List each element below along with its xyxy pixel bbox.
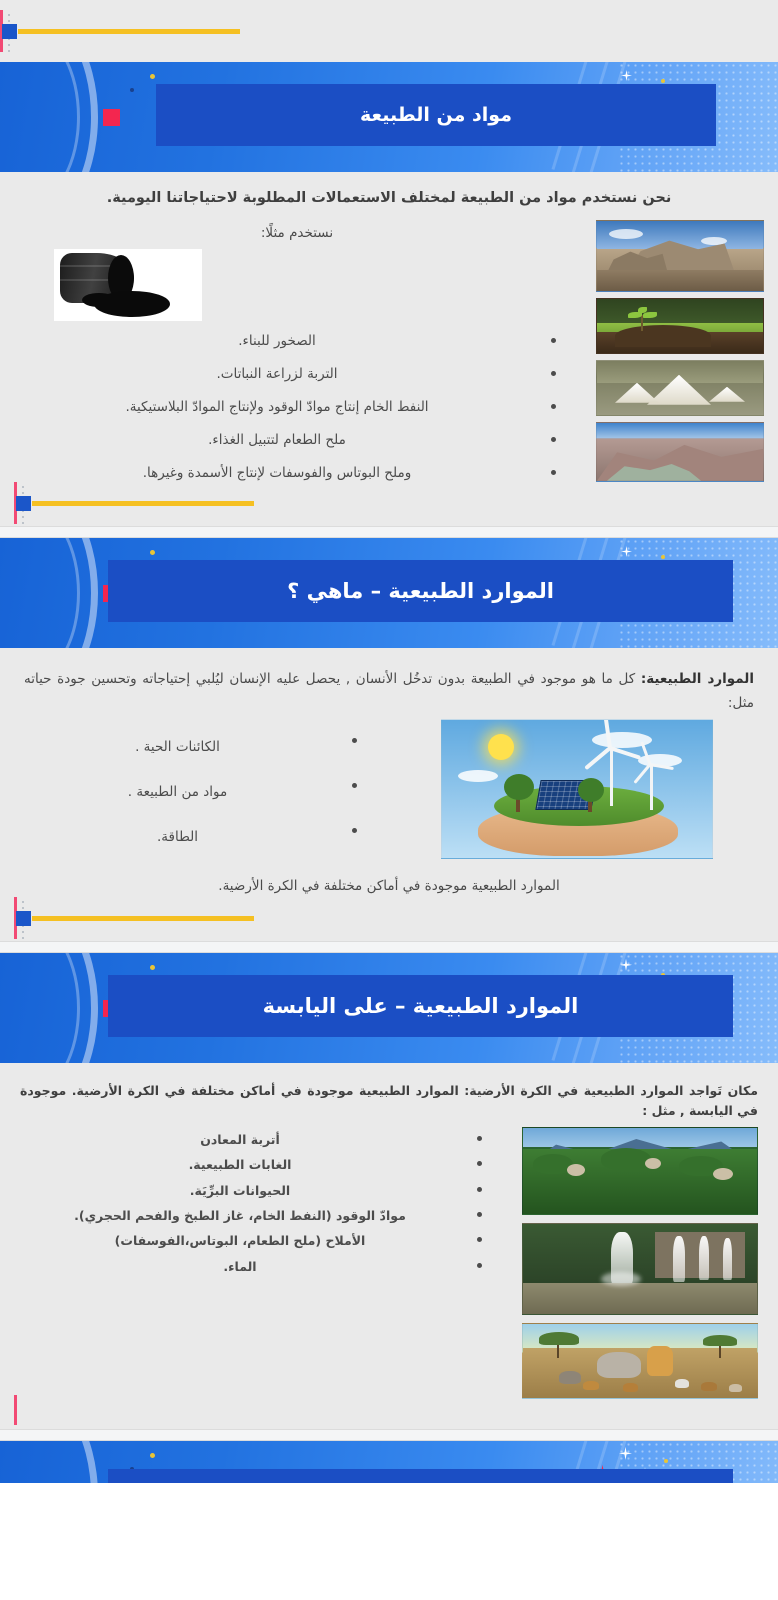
list-item: الكائنات الحية . xyxy=(14,725,367,770)
list-item: الماء. xyxy=(14,1254,492,1279)
boulder-icon xyxy=(645,1158,661,1169)
antelope-icon xyxy=(623,1383,638,1392)
mist-icon xyxy=(601,1272,641,1286)
list-item: الصخور للبناء. xyxy=(14,325,566,358)
blue-square-icon xyxy=(16,496,31,511)
list-item: وملح البوتاس والفوسفات لإنتاج الأسمدة وغ… xyxy=(14,457,566,490)
soil-sapling-photo xyxy=(596,298,764,354)
top-decoration xyxy=(0,18,778,44)
photo-column xyxy=(588,220,764,488)
content-columns: أتربة المعادن الغابات الطبيعية. الحيوانا… xyxy=(14,1127,764,1405)
list-item: موادّ الوقود (النفط الخام، غاز الطبخ وال… xyxy=(14,1203,492,1228)
photo-trees-layer xyxy=(597,299,763,325)
acacia-tree-icon xyxy=(719,1344,721,1358)
slide-tail-space xyxy=(14,1419,764,1429)
tree-icon xyxy=(578,778,604,802)
photo-ground-layer xyxy=(597,270,763,291)
savanna-wildlife-photo xyxy=(522,1323,758,1399)
oil-barrel-photo xyxy=(54,249,202,321)
pink-bar-icon xyxy=(14,1395,17,1425)
slide-materials-from-nature: مواد من الطبيعة نحن نستخدم مواد من الطبي… xyxy=(0,62,778,526)
waterfall-stream-icon xyxy=(699,1236,709,1280)
slide-tail-space xyxy=(14,516,764,526)
rock-formation-photo xyxy=(596,220,764,292)
photo-column xyxy=(389,719,764,865)
slide-lead-text: نحن نستخدم مواد من الطبيعة لمختلف الاستع… xyxy=(14,186,764,220)
list-item: الحيوانات البرِّيَة. xyxy=(14,1178,492,1203)
dot-icon xyxy=(661,79,665,83)
content-columns: الكائنات الحية . مواد من الطبيعة . الطاق… xyxy=(14,719,764,865)
slide-footer-decoration xyxy=(14,905,764,931)
yellow-rule-icon xyxy=(18,29,240,34)
boulder-icon xyxy=(713,1168,733,1180)
slide-closing-text: الموارد الطبيعية موجودة في أماكن مختلفة … xyxy=(14,865,764,905)
slide-next-partial xyxy=(0,1441,778,1483)
slide-separator xyxy=(0,526,778,538)
list-item: الأملاح (ملح الطعام، البوتاس،الفوسفات) xyxy=(14,1228,492,1253)
slide-banner: مواد من الطبيعة xyxy=(0,62,778,172)
slide-banner: الموارد الطبيعية – ماهي ؟ xyxy=(0,538,778,648)
waterfall-photo xyxy=(522,1223,758,1315)
cloud-icon xyxy=(701,237,727,245)
bird-icon xyxy=(729,1384,742,1392)
intro-paragraph: مكان تَواجد الموارد الطبيعية في الكرة ال… xyxy=(14,1077,764,1127)
slide-bullet-list: الكائنات الحية . مواد من الطبيعة . الطاق… xyxy=(14,725,381,860)
slide-bullet-list: الصخور للبناء. التربة لزراعة النباتات. ا… xyxy=(14,325,580,490)
dot-icon xyxy=(150,550,155,555)
cloud-icon xyxy=(458,770,498,782)
dot-icon xyxy=(150,1453,155,1458)
slide-bullet-list: أتربة المعادن الغابات الطبيعية. الحيوانا… xyxy=(14,1127,506,1279)
slide-resources-on-land: الموارد الطبيعية – على اليابسة مكان تَوا… xyxy=(0,953,778,1429)
page-top-strip xyxy=(0,0,778,62)
list-item: النفط الخام إنتاج موادّ الوقود ولإنتاج ا… xyxy=(14,391,566,424)
acacia-canopy-icon xyxy=(703,1335,737,1346)
slide-footer-decoration xyxy=(14,490,764,516)
boulder-icon xyxy=(567,1164,585,1176)
tree-cluster-icon xyxy=(601,1148,651,1170)
yellow-rule-icon xyxy=(32,501,254,506)
forest-mountain-photo xyxy=(522,1127,758,1215)
list-item: الطاقة. xyxy=(14,815,367,860)
slide-intro-text: نستخدم مثلًا: xyxy=(14,220,580,248)
soil-mound-icon xyxy=(615,325,711,347)
content-columns: نستخدم مثلًا: الصخور للبناء. التربة لزرا… xyxy=(14,220,764,490)
slide-separator xyxy=(0,1429,778,1441)
banner-arc-icon xyxy=(0,1441,98,1483)
slide-body: الموارد الطبيعية: كل ما هو موجود في الطب… xyxy=(0,648,778,941)
salt-pile-icon xyxy=(615,383,659,403)
waterfall-stream-icon xyxy=(723,1238,732,1280)
slide-body: نحن نستخدم مواد من الطبيعة لمختلف الاستع… xyxy=(0,172,778,526)
photo-sky-layer xyxy=(597,423,763,438)
text-column: أتربة المعادن الغابات الطبيعية. الحيوانا… xyxy=(14,1127,506,1279)
wind-turbine-icon xyxy=(650,766,653,810)
slide-title-plate: الموارد الطبيعية – ماهي ؟ xyxy=(108,560,733,622)
yellow-rule-icon xyxy=(32,916,254,921)
antelope-icon xyxy=(701,1382,717,1391)
dot-icon xyxy=(661,555,665,559)
red-square-icon xyxy=(103,109,120,126)
list-item: أتربة المعادن xyxy=(14,1127,492,1152)
slide-what-are-natural-resources: الموارد الطبيعية – ماهي ؟ الموارد الطبيع… xyxy=(0,538,778,941)
dot-icon xyxy=(664,1459,668,1463)
slide-tail-space xyxy=(14,931,764,941)
rhino-icon xyxy=(559,1371,581,1384)
leaf-icon xyxy=(638,307,647,313)
eco-energy-hand-photo xyxy=(441,719,713,859)
slide-title: الموارد الطبيعية – على اليابسة xyxy=(263,994,579,1018)
elephant-icon xyxy=(597,1352,641,1378)
banner-arc-inner-icon xyxy=(0,538,80,648)
list-item: الغابات الطبيعية. xyxy=(14,1152,492,1177)
sun-icon xyxy=(488,734,514,760)
tree-icon xyxy=(504,774,534,800)
antelope-icon xyxy=(583,1381,599,1390)
list-item: ملح الطعام لتتبيل الغذاء. xyxy=(14,424,566,457)
slide-title: الموارد الطبيعية – ماهي ؟ xyxy=(287,579,554,603)
slide-title-plate: مواد من الطبيعة xyxy=(156,84,716,146)
dot-icon xyxy=(150,74,155,79)
acacia-canopy-icon xyxy=(539,1332,579,1345)
water-pool-layer xyxy=(523,1283,757,1314)
text-column: الكائنات الحية . مواد من الطبيعة . الطاق… xyxy=(14,725,381,860)
blue-square-icon xyxy=(2,24,17,39)
wind-turbine-icon xyxy=(610,748,613,806)
definition-label: الموارد الطبيعية: xyxy=(641,671,754,687)
slide-title-plate: الموارد الطبيعية – على اليابسة xyxy=(108,975,733,1037)
slide-title: مواد من الطبيعة xyxy=(360,104,512,126)
giraffe-icon xyxy=(647,1346,673,1376)
slide-body: مكان تَواجد الموارد الطبيعية في الكرة ال… xyxy=(0,1063,778,1429)
cloud-icon xyxy=(609,229,643,239)
blue-square-icon xyxy=(16,911,31,926)
photo-column xyxy=(514,1127,764,1405)
banner-arc-inner-icon xyxy=(0,62,80,172)
slide-banner xyxy=(0,1441,778,1483)
slide-title-plate xyxy=(108,1469,733,1483)
slide-banner: الموارد الطبيعية – على اليابسة xyxy=(0,953,778,1063)
slide-separator xyxy=(0,941,778,953)
phosphate-rock-photo xyxy=(596,422,764,482)
list-item: مواد من الطبيعة . xyxy=(14,770,367,815)
waterfall-stream-icon xyxy=(673,1236,685,1282)
list-item: التربة لزراعة النباتات. xyxy=(14,358,566,391)
dot-icon xyxy=(130,88,134,92)
salt-piles-photo xyxy=(596,360,764,416)
salt-pile-icon xyxy=(709,387,745,402)
banner-arc-inner-icon xyxy=(0,953,80,1063)
zebra-icon xyxy=(675,1379,689,1388)
dot-icon xyxy=(150,965,155,970)
definition-paragraph: الموارد الطبيعية: كل ما هو موجود في الطب… xyxy=(14,662,764,719)
text-column: نستخدم مثلًا: الصخور للبناء. التربة لزرا… xyxy=(14,220,580,490)
intro-label: مكان تَواجد الموارد الطبيعية في الكرة ال… xyxy=(464,1083,758,1098)
leaf-icon xyxy=(643,312,657,318)
slide-footer-decoration xyxy=(14,1405,764,1419)
